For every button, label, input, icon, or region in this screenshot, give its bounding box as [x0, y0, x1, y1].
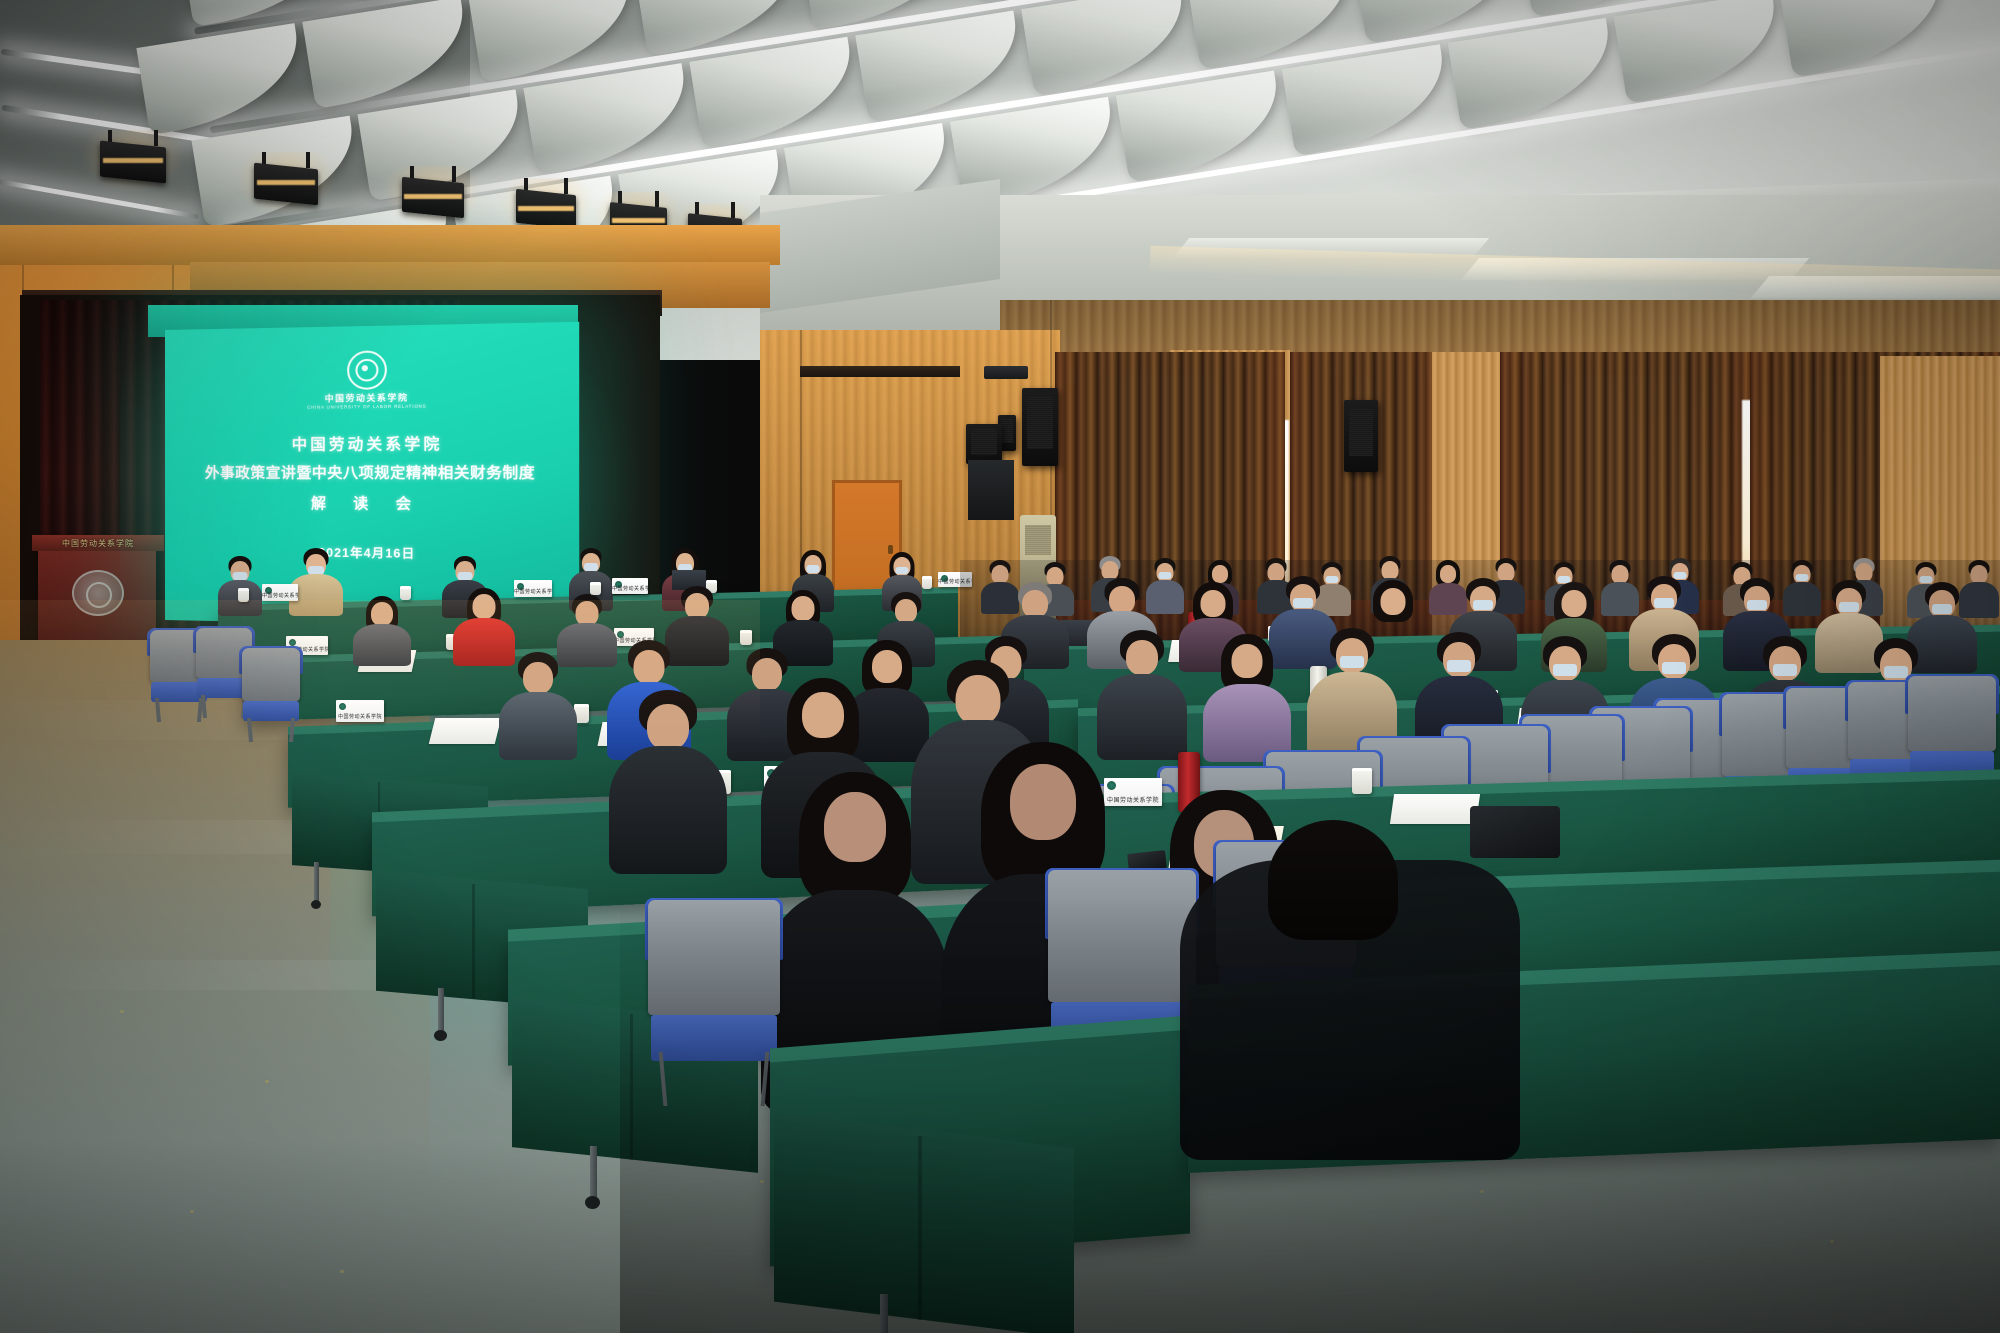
- chair[interactable]: [242, 648, 300, 742]
- name-card: 中国劳动关系学院: [612, 578, 648, 594]
- document: [429, 718, 501, 744]
- name-card: 中国劳动关系学院: [262, 584, 298, 601]
- loudspeaker: [1022, 388, 1058, 466]
- attendee-red-jacket: [452, 588, 516, 662]
- ceiling-projector: [984, 366, 1028, 379]
- attendee-hair: [1268, 820, 1398, 940]
- stage-spotlight: [402, 180, 464, 215]
- namecard-logo-icon: [339, 703, 346, 710]
- attendee: [498, 652, 578, 756]
- water-cup: [1352, 768, 1372, 794]
- podium-label: 中国劳动关系学院: [36, 537, 160, 550]
- university-emblem-icon: [347, 350, 387, 390]
- university-seal-icon: [72, 570, 124, 616]
- bag: [1470, 806, 1560, 858]
- wall-track: [800, 366, 960, 377]
- water-cup: [238, 588, 249, 602]
- equipment-cabinet: [968, 460, 1014, 520]
- water-cup: [922, 576, 932, 589]
- stage-spotlight: [100, 144, 166, 180]
- name-card: 中国劳动关系学院: [514, 580, 552, 597]
- chair[interactable]: [648, 900, 780, 1106]
- document: [1390, 794, 1480, 824]
- conference-hall-photo: 中国劳动关系学院 中国劳动关系学院 CHINA UNIVERSITY OF LA…: [0, 0, 2000, 1333]
- attendee: [1202, 634, 1292, 758]
- water-cup: [740, 630, 752, 645]
- screen-title-line-3: 解 读 会: [165, 492, 579, 515]
- screen-title-line-1: 中国劳动关系学院: [165, 432, 579, 455]
- attendee: [1096, 630, 1188, 758]
- stage-spotlight: [254, 166, 318, 202]
- stage-spotlight: [516, 192, 576, 226]
- namecard-logo-icon: [289, 639, 296, 646]
- name-card: 中国劳动关系学院: [336, 700, 384, 722]
- attendee: [608, 690, 728, 870]
- attendee: [288, 548, 344, 614]
- loudspeaker: [1344, 400, 1378, 472]
- attendee: [352, 596, 412, 662]
- attendee: [216, 556, 264, 614]
- loudspeaker: [966, 424, 1002, 464]
- screen-title-line-2: 外事政策宣讲暨中央八项规定精神相关财务制度: [165, 461, 579, 483]
